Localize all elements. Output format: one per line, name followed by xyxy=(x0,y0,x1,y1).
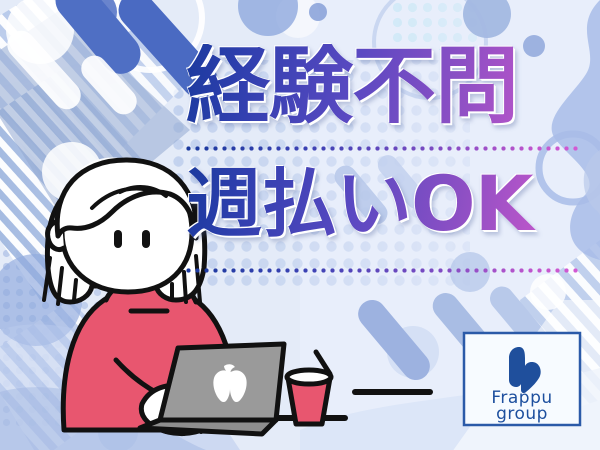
recruitment-banner: 経験不問 週払いOK Frappu group xyxy=(0,0,600,450)
cup-lid xyxy=(287,370,331,384)
logo-text-line-2: group xyxy=(496,404,548,424)
drink-cup xyxy=(287,352,331,424)
hair-lock-right2 xyxy=(184,272,186,302)
company-logo[interactable]: Frappu group xyxy=(462,331,582,427)
hair-lock-left3 xyxy=(74,280,76,300)
